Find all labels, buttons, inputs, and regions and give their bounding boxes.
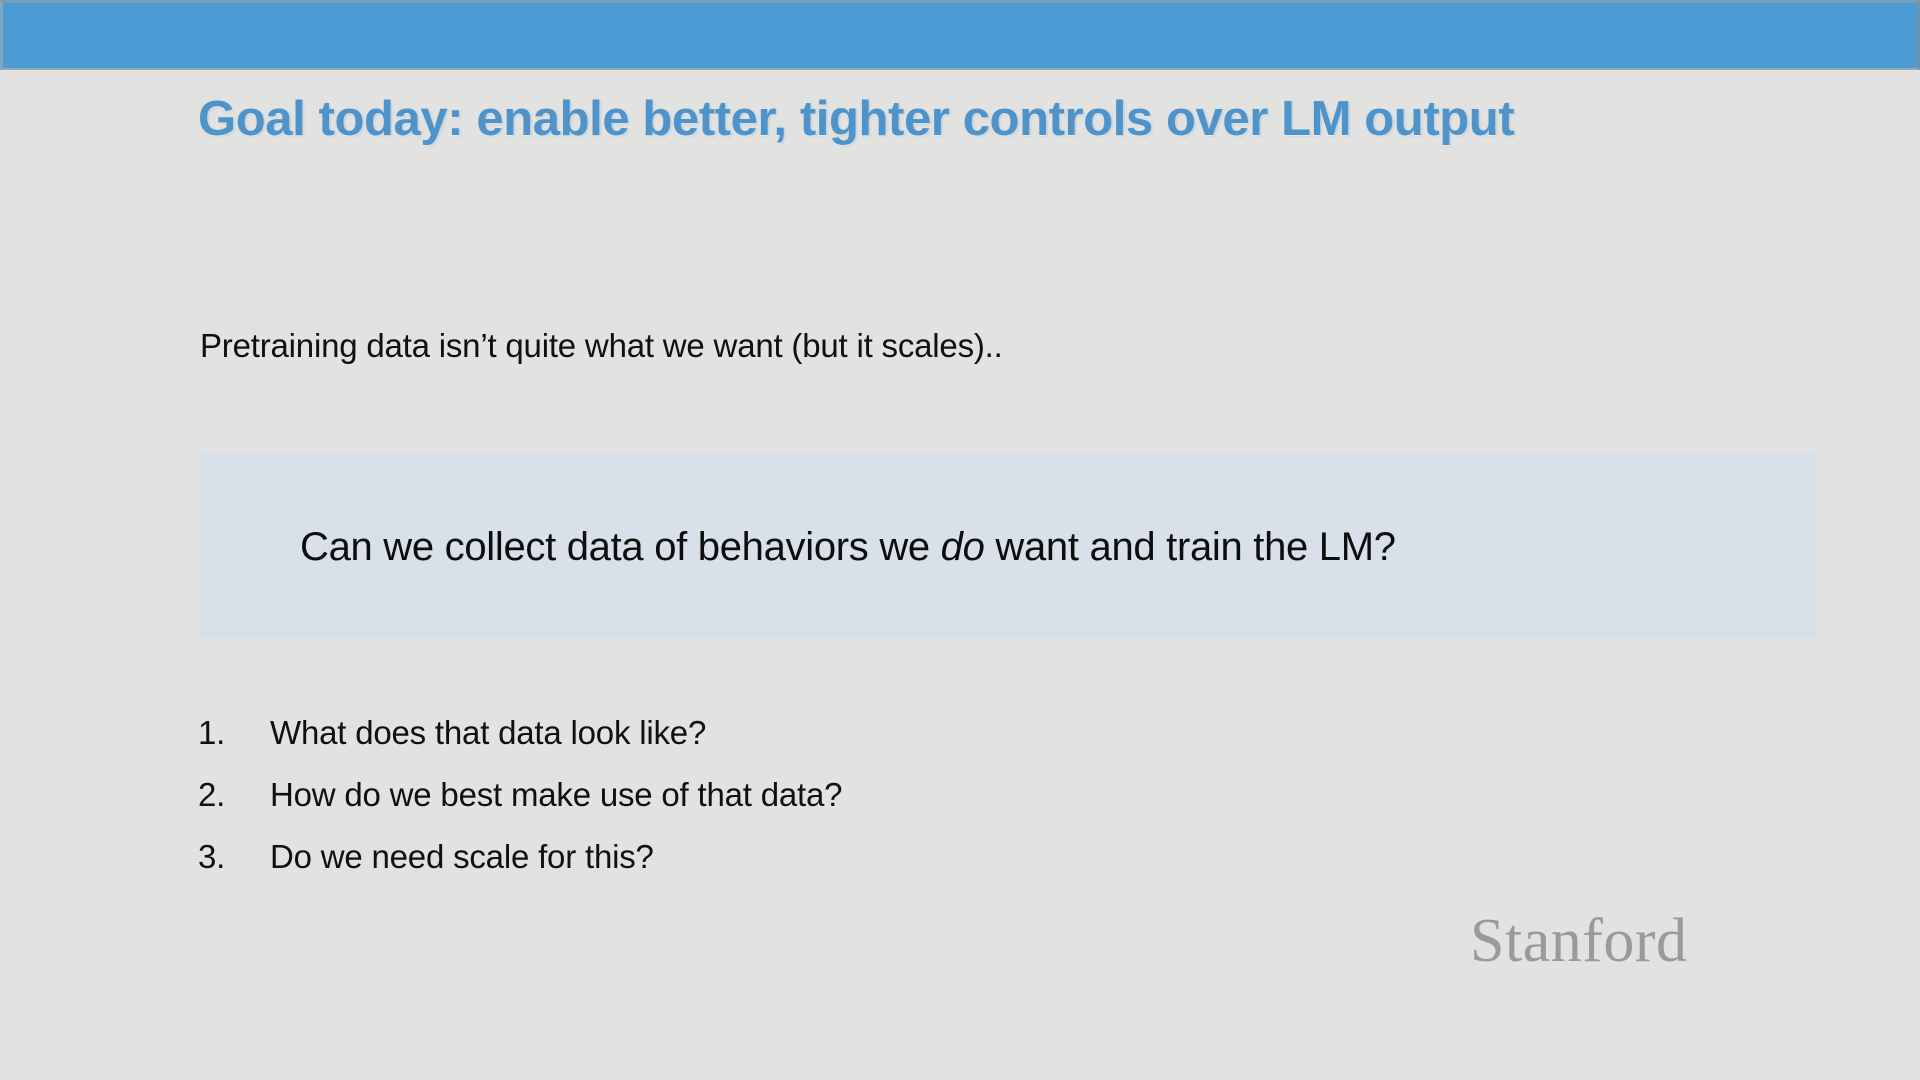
list-item-number: 1. bbox=[198, 712, 270, 754]
list-item-label: Do we need scale for this? bbox=[270, 836, 654, 878]
slide-top-accent-band bbox=[0, 0, 1920, 70]
list-item-label: How do we best make use of that data? bbox=[270, 774, 842, 816]
callout-text-before: Can we collect data of behaviors we bbox=[300, 525, 941, 569]
slide-title: Goal today: enable better, tighter contr… bbox=[198, 90, 1878, 148]
list-item-number: 3. bbox=[198, 836, 270, 878]
callout-text-after: want and train the LM? bbox=[985, 525, 1396, 569]
list-item: 1. What does that data look like? bbox=[198, 712, 1298, 774]
callout-emphasis-word: do bbox=[941, 525, 985, 569]
list-item: 3. Do we need scale for this? bbox=[198, 836, 1298, 898]
stanford-wordmark-logo: Stanford bbox=[1470, 906, 1688, 976]
numbered-question-list: 1. What does that data look like? 2. How… bbox=[198, 712, 1298, 898]
list-item-label: What does that data look like? bbox=[270, 712, 706, 754]
callout-question-text: Can we collect data of behaviors we do w… bbox=[300, 523, 1396, 571]
list-item: 2. How do we best make use of that data? bbox=[198, 774, 1298, 836]
presentation-slide: Goal today: enable better, tighter contr… bbox=[0, 0, 1920, 1080]
list-item-number: 2. bbox=[198, 774, 270, 816]
slide-intro-line: Pretraining data isn’t quite what we wan… bbox=[200, 325, 1003, 367]
